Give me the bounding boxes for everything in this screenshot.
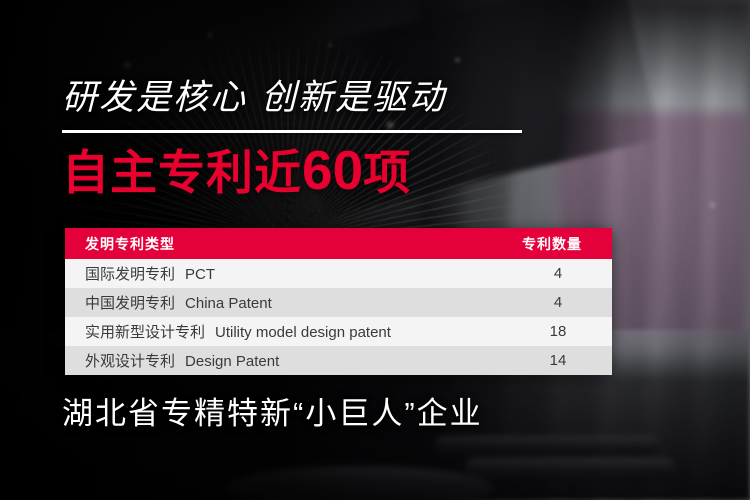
- subheadline-suffix: 项: [363, 146, 411, 199]
- table-header-count: 专利数量: [498, 234, 612, 254]
- patent-table: 发明专利类型 专利数量 国际发明专利PCT 4 中国发明专利China Pate…: [65, 228, 612, 375]
- patent-type-cn: 实用新型设计专利: [85, 324, 205, 341]
- patent-type-en: Utility model design patent: [215, 324, 391, 341]
- table-cell-type: 外观设计专利Design Patent: [65, 350, 504, 371]
- patent-type-cn: 国际发明专利: [85, 266, 175, 283]
- table-cell-type: 实用新型设计专利Utility model design patent: [65, 321, 504, 342]
- table-cell-count: 4: [504, 265, 612, 282]
- patent-type-cn: 中国发明专利: [85, 295, 175, 312]
- subheadline-prefix: 自主专利近: [62, 146, 302, 199]
- table-row: 中国发明专利China Patent 4: [65, 288, 612, 317]
- headline-part-1: 研发是核心: [62, 78, 247, 117]
- headline-part-2: 创新是驱动: [261, 78, 446, 117]
- headline: 研发是核心创新是驱动: [62, 80, 446, 115]
- table-cell-count: 14: [504, 352, 612, 369]
- subheadline: 自主专利近60项: [62, 143, 411, 198]
- table-cell-count: 4: [504, 294, 612, 311]
- patent-banner: 研发是核心创新是驱动 自主专利近60项 发明专利类型 专利数量 国际发明专利PC…: [0, 0, 750, 500]
- patent-type-cn: 外观设计专利: [85, 353, 175, 370]
- footer-tagline: 湖北省专精特新“小巨人”企业: [62, 398, 483, 429]
- table-row: 实用新型设计专利Utility model design patent 18: [65, 317, 612, 346]
- patent-type-en: China Patent: [185, 295, 272, 312]
- table-header-row: 发明专利类型 专利数量: [65, 228, 612, 259]
- patent-count-number: 60: [302, 139, 363, 201]
- table-cell-type: 中国发明专利China Patent: [65, 292, 504, 313]
- patent-type-en: Design Patent: [185, 353, 279, 370]
- table-cell-type: 国际发明专利PCT: [65, 263, 504, 284]
- table-row: 国际发明专利PCT 4: [65, 259, 612, 288]
- table-cell-count: 18: [504, 323, 612, 340]
- patent-type-en: PCT: [185, 266, 215, 283]
- banner-content: 研发是核心创新是驱动 自主专利近60项 发明专利类型 专利数量 国际发明专利PC…: [0, 0, 750, 500]
- headline-divider: [62, 130, 522, 133]
- table-header-type: 发明专利类型: [65, 234, 498, 254]
- table-row: 外观设计专利Design Patent 14: [65, 346, 612, 375]
